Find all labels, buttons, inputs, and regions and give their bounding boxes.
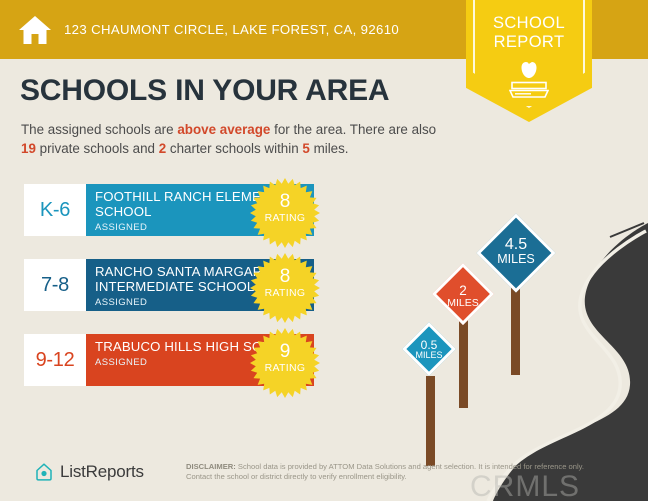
page-subtitle: The assigned schools are above average f… bbox=[21, 120, 451, 158]
distance-illustration: 4.5 MILES 2 MILES 0.5 MILES bbox=[398, 215, 648, 501]
rating-label: RATING bbox=[250, 362, 320, 374]
sign-post bbox=[426, 376, 435, 466]
grade-range-box: K-6 bbox=[24, 184, 86, 236]
rating-text: 8 RATING bbox=[250, 267, 320, 299]
page-title: SCHOOLS IN YOUR AREA bbox=[20, 74, 389, 108]
grade-range-label: K-6 bbox=[40, 199, 70, 222]
badge-line-1: SCHOOL bbox=[466, 14, 592, 33]
school-row[interactable]: 7-8 RANCHO SANTA MARGARITA INTERMEDIATE … bbox=[24, 259, 314, 311]
rating-label: RATING bbox=[250, 287, 320, 299]
badge-title: SCHOOL REPORT bbox=[466, 14, 592, 52]
rating-starburst: 9 RATING bbox=[250, 328, 320, 398]
sign-distance-unit: MILES bbox=[478, 253, 554, 266]
sign-distance-unit: MILES bbox=[433, 298, 493, 309]
books-icon bbox=[509, 81, 549, 98]
sign-post bbox=[459, 320, 468, 408]
apple-icon bbox=[518, 58, 540, 80]
school-row[interactable]: K-6 FOOTHILL RANCH ELEMENTARY SCHOOL ASS… bbox=[24, 184, 314, 236]
subtitle-highlight-above-average: above average bbox=[177, 122, 270, 137]
rating-label: RATING bbox=[250, 212, 320, 224]
grade-range-label: 7-8 bbox=[41, 274, 69, 297]
school-row[interactable]: 9-12 TRABUCO HILLS HIGH SCHOOL ASSIGNED … bbox=[24, 334, 314, 386]
subtitle-part-4: charter schools within bbox=[166, 141, 302, 156]
sign-label: 2 MILES bbox=[433, 284, 493, 308]
subtitle-part-3: private schools and bbox=[36, 141, 159, 156]
subtitle-part-1: The assigned schools are bbox=[21, 122, 177, 137]
subtitle-part-2: for the area. There are also bbox=[270, 122, 436, 137]
sign-distance-value: 2 bbox=[433, 284, 493, 298]
listreports-logo-icon bbox=[34, 462, 54, 482]
badge-icons bbox=[466, 58, 592, 98]
rating-text: 8 RATING bbox=[250, 192, 320, 224]
rating-value: 8 bbox=[250, 267, 320, 287]
grade-range-box: 9-12 bbox=[24, 334, 86, 386]
crmls-watermark: CRMLS bbox=[470, 470, 580, 501]
rating-starburst: 8 RATING bbox=[250, 253, 320, 323]
property-address: 123 CHAUMONT CIRCLE, LAKE FOREST, CA, 92… bbox=[64, 22, 399, 37]
subtitle-highlight-radius: 5 bbox=[302, 141, 309, 156]
sign-distance-value: 4.5 bbox=[478, 237, 554, 253]
rating-value: 9 bbox=[250, 342, 320, 362]
disclaimer-label: DISCLAIMER: bbox=[186, 462, 236, 471]
listreports-logo[interactable]: ListReports bbox=[34, 462, 144, 482]
school-report-badge: SCHOOL REPORT bbox=[466, 0, 592, 122]
sign-label: 0.5 MILES bbox=[400, 339, 458, 360]
sign-distance-unit: MILES bbox=[400, 351, 458, 360]
sign-post bbox=[511, 287, 520, 375]
header-content: 123 CHAUMONT CIRCLE, LAKE FOREST, CA, 92… bbox=[18, 0, 399, 59]
rating-text: 9 RATING bbox=[250, 342, 320, 374]
rating-value: 8 bbox=[250, 192, 320, 212]
grade-range-label: 9-12 bbox=[36, 349, 75, 372]
infographic-page: 123 CHAUMONT CIRCLE, LAKE FOREST, CA, 92… bbox=[0, 0, 648, 501]
listreports-logo-text: ListReports bbox=[60, 462, 144, 482]
home-icon bbox=[18, 14, 52, 46]
subtitle-highlight-private-count: 19 bbox=[21, 141, 36, 156]
sign-label: 4.5 MILES bbox=[478, 237, 554, 266]
rating-starburst: 8 RATING bbox=[250, 178, 320, 248]
subtitle-part-5: miles. bbox=[310, 141, 349, 156]
badge-line-2: REPORT bbox=[466, 33, 592, 52]
grade-range-box: 7-8 bbox=[24, 259, 86, 311]
